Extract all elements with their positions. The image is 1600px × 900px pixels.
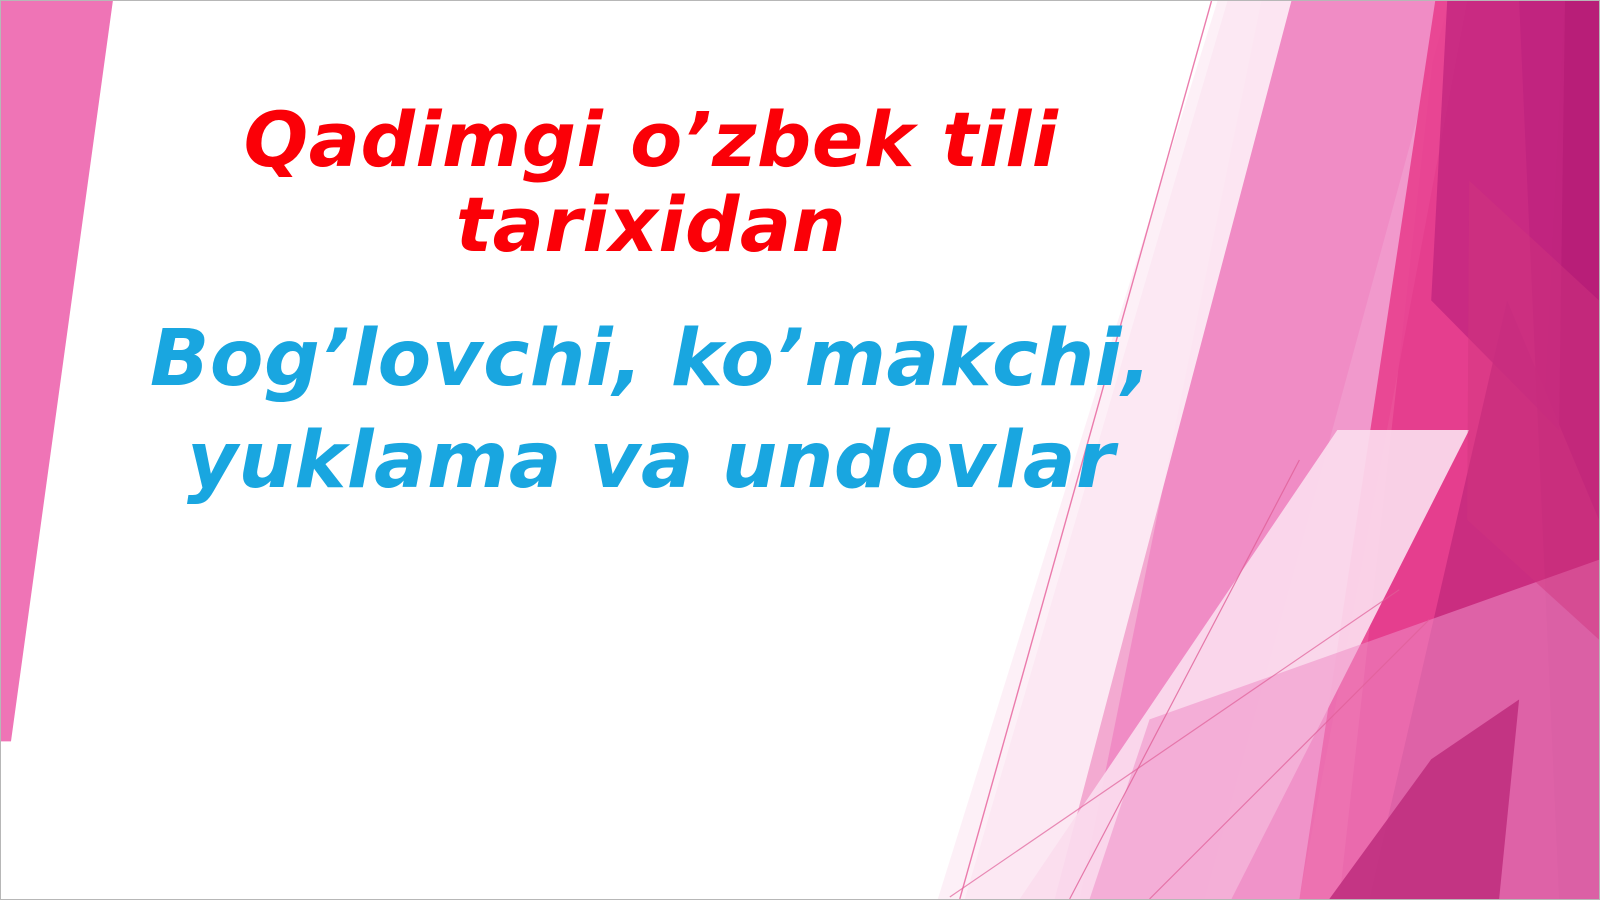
right-mid-highlight bbox=[1467, 181, 1599, 640]
hairline-bottom-sweep bbox=[950, 590, 1399, 897]
soft-pink-overlay bbox=[1090, 560, 1599, 899]
vivid-pink-wedge bbox=[1299, 1, 1559, 899]
presentation-slide: Qadimgi o’zbek tili tarixidan Bog’lovchi… bbox=[0, 0, 1600, 900]
left-pink-wedge bbox=[1, 1, 113, 741]
slide-text-content: Qadimgi o’zbek tili tarixidan Bog’lovchi… bbox=[121, 97, 1181, 512]
rose-facet bbox=[1369, 300, 1599, 899]
subtitle-line-1: Bog’lovchi, ko’makchi, bbox=[121, 309, 1181, 410]
hairline-secondary-diagonal bbox=[1070, 460, 1300, 899]
title-line-2: tarixidan bbox=[121, 182, 1181, 267]
subtitle-line-2: yuklama va undovlar bbox=[121, 411, 1181, 512]
slide-title: Qadimgi o’zbek tili tarixidan bbox=[121, 97, 1181, 267]
right-edge-magenta-strip bbox=[1519, 1, 1599, 899]
upper-right-facet bbox=[1431, 1, 1565, 430]
hairline-shallow-diagonal bbox=[1150, 620, 1430, 899]
slide-subtitle: Bog’lovchi, ko’makchi, yuklama va undovl… bbox=[121, 309, 1181, 512]
bottom-dark-facet bbox=[1329, 699, 1519, 899]
title-line-1: Qadimgi o’zbek tili bbox=[121, 97, 1181, 182]
right-base-magenta bbox=[1339, 1, 1599, 899]
